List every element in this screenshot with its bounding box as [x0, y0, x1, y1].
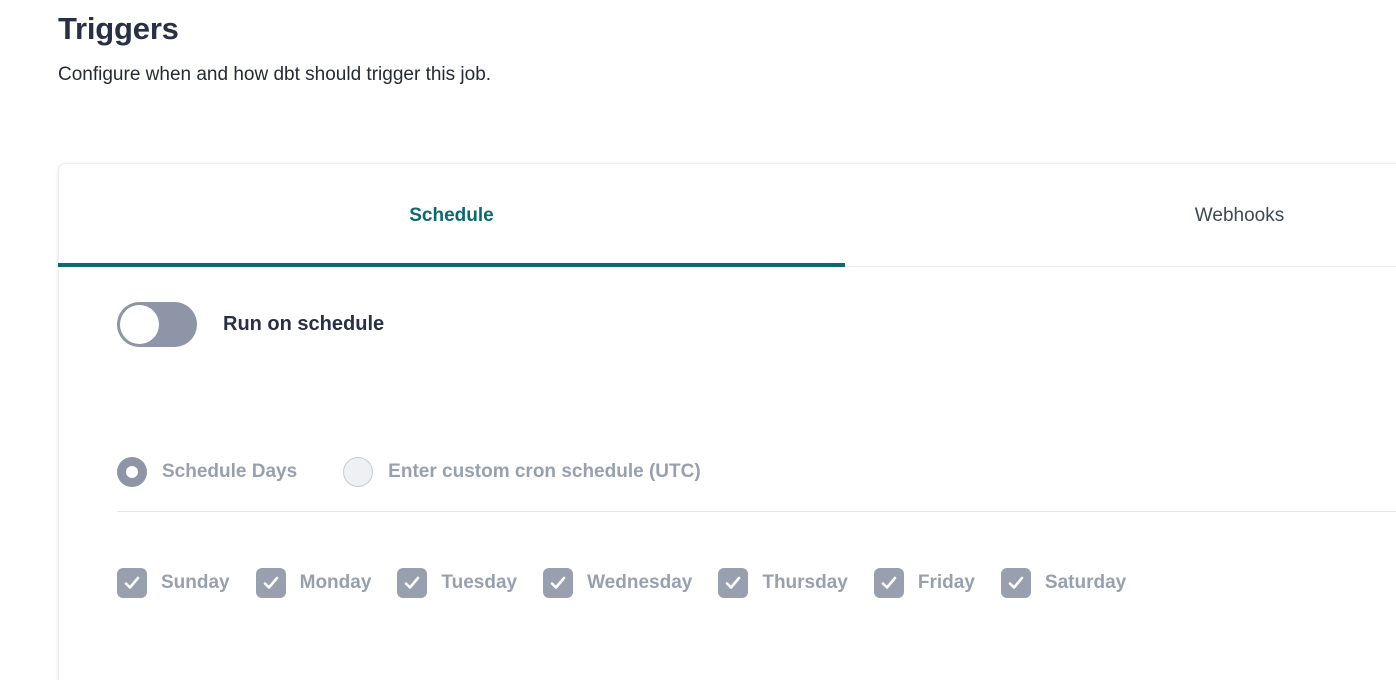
day-checkbox-sunday[interactable]: Sunday: [117, 568, 230, 598]
radio-option-schedule-days[interactable]: Schedule Days: [117, 457, 297, 487]
triggers-card: Schedule Webhooks Run on schedule Schedu…: [58, 163, 1396, 680]
schedule-mode-group: Schedule Days Enter custom cron schedule…: [117, 457, 701, 487]
check-icon: [725, 574, 741, 592]
checkbox-checked-icon[interactable]: [543, 568, 573, 598]
day-label-thursday: Thursday: [762, 572, 848, 594]
checkbox-checked-icon[interactable]: [1001, 568, 1031, 598]
day-checkbox-wednesday[interactable]: Wednesday: [543, 568, 692, 598]
check-icon: [881, 574, 897, 592]
page-title: Triggers: [58, 10, 958, 49]
radio-label-schedule-days: Schedule Days: [162, 461, 297, 483]
check-icon: [404, 574, 420, 592]
section-divider: [117, 511, 1396, 512]
day-checkbox-saturday[interactable]: Saturday: [1001, 568, 1126, 598]
day-checkbox-friday[interactable]: Friday: [874, 568, 975, 598]
day-label-tuesday: Tuesday: [441, 572, 517, 594]
day-checkbox-thursday[interactable]: Thursday: [718, 568, 848, 598]
run-on-schedule-label: Run on schedule: [223, 313, 384, 336]
day-label-sunday: Sunday: [161, 572, 230, 594]
triggers-page: Triggers Configure when and how dbt shou…: [0, 0, 1396, 680]
checkbox-checked-icon[interactable]: [256, 568, 286, 598]
day-checkbox-monday[interactable]: Monday: [256, 568, 372, 598]
run-on-schedule-row: Run on schedule: [117, 302, 384, 347]
radio-label-custom-cron: Enter custom cron schedule (UTC): [388, 461, 701, 483]
day-label-friday: Friday: [918, 572, 975, 594]
checkbox-checked-icon[interactable]: [117, 568, 147, 598]
checkbox-checked-icon[interactable]: [397, 568, 427, 598]
radio-option-custom-cron[interactable]: Enter custom cron schedule (UTC): [343, 457, 701, 487]
schedule-panel: Run on schedule Schedule Days Enter cust…: [117, 164, 1396, 680]
check-icon: [550, 574, 566, 592]
check-icon: [124, 574, 140, 592]
check-icon: [263, 574, 279, 592]
radio-checked-icon[interactable]: [117, 457, 147, 487]
checkbox-checked-icon[interactable]: [874, 568, 904, 598]
run-on-schedule-toggle[interactable]: [117, 302, 197, 347]
page-subtitle: Configure when and how dbt should trigge…: [58, 63, 958, 88]
toggle-off-icon: [120, 305, 159, 344]
day-label-saturday: Saturday: [1045, 572, 1126, 594]
page-header: Triggers Configure when and how dbt shou…: [58, 10, 958, 87]
day-checkbox-tuesday[interactable]: Tuesday: [397, 568, 517, 598]
check-icon: [1008, 574, 1024, 592]
day-label-wednesday: Wednesday: [587, 572, 692, 594]
radio-unchecked-icon[interactable]: [343, 457, 373, 487]
schedule-days-group: Sunday Monday Tu: [117, 568, 1126, 598]
day-label-monday: Monday: [300, 572, 372, 594]
checkbox-checked-icon[interactable]: [718, 568, 748, 598]
